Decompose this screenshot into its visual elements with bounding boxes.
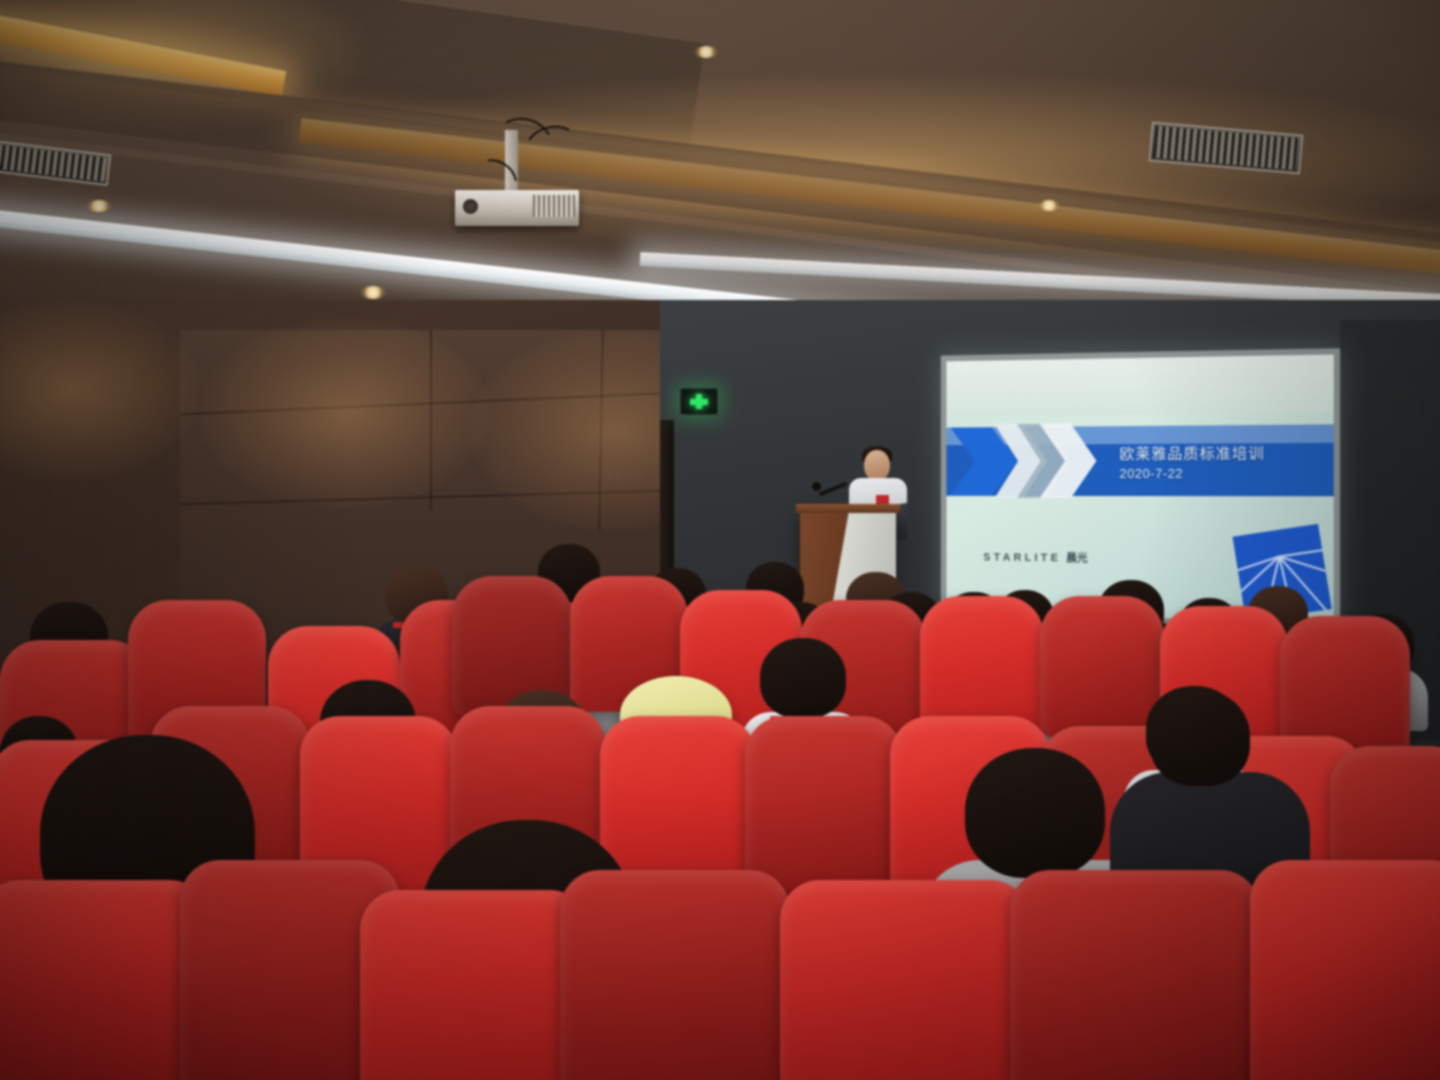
auditorium-seat[interactable] bbox=[0, 880, 210, 1080]
auditorium-seat[interactable] bbox=[560, 870, 790, 1080]
auditorium-seat[interactable] bbox=[1250, 860, 1440, 1080]
audience-head bbox=[760, 638, 846, 718]
auditorium-seat[interactable] bbox=[360, 890, 590, 1080]
auditorium-seat[interactable] bbox=[780, 880, 1030, 1080]
auditorium-seat[interactable] bbox=[1010, 870, 1260, 1080]
auditorium-seat[interactable] bbox=[1040, 596, 1164, 738]
audience-head bbox=[1150, 690, 1250, 786]
audience-area bbox=[0, 0, 1440, 1080]
audience-head bbox=[965, 748, 1105, 878]
conference-room-photo: 安全出口 欧莱雅品质标准培训 2020-7-22 STARLITE晨光 bbox=[0, 0, 1440, 1080]
